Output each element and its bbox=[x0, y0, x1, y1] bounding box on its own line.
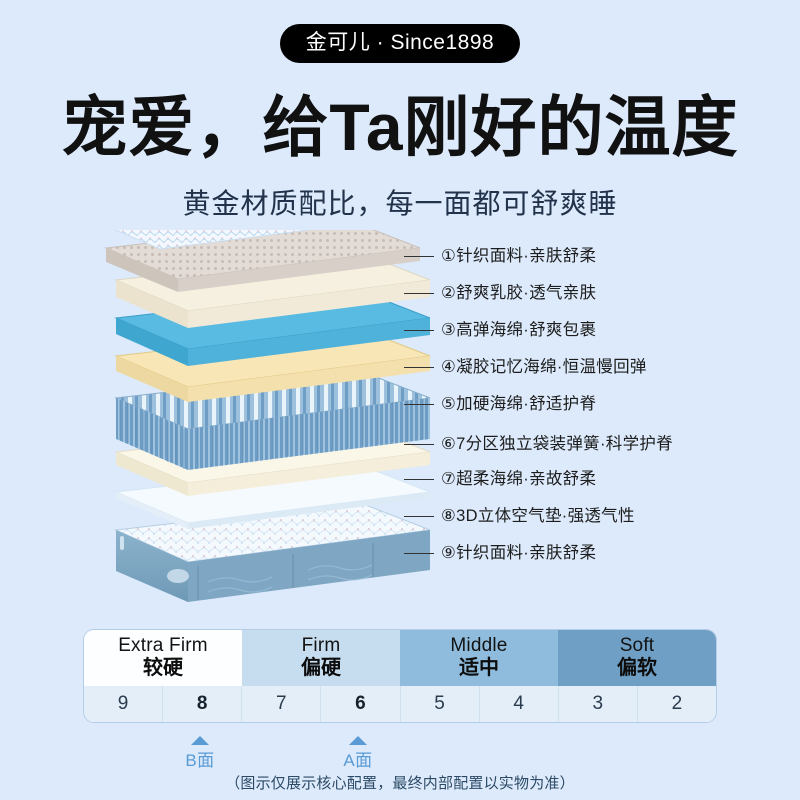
firmness-number-cell: 2 bbox=[638, 686, 716, 722]
side-marker-label: A面 bbox=[343, 751, 372, 770]
layer-label-7: ⑦超柔海绵·亲故舒柔 bbox=[404, 471, 596, 488]
firmness-header-extra-firm: Extra Firm 较硬 bbox=[84, 630, 242, 686]
side-marker-a: A面 bbox=[328, 736, 388, 771]
infographic-page: 金可儿 · Since1898 宠爱，给Ta刚好的温度 黄金材质配比，每一面都可… bbox=[0, 0, 800, 800]
layer-label-text: ⑨针织面料·亲肤舒柔 bbox=[441, 545, 596, 562]
layer-label-text: ⑦超柔海绵·亲故舒柔 bbox=[441, 471, 596, 488]
layer-label-6: ⑥7分区独立袋装弹簧·科学护脊 bbox=[404, 436, 673, 453]
mattress-exploded-illustration bbox=[58, 230, 458, 605]
firmness-header-en: Soft bbox=[620, 636, 655, 656]
leader-line-icon bbox=[404, 293, 434, 294]
layer-label-1: ①针织面料·亲肤舒柔 bbox=[404, 248, 596, 265]
layer-label-text: ⑤加硬海绵·舒适护脊 bbox=[441, 396, 596, 413]
firmness-header-soft: Soft 偏软 bbox=[558, 630, 716, 686]
firmness-header-zh: 偏软 bbox=[617, 657, 657, 680]
layer-label-text: ③高弹海绵·舒爽包裹 bbox=[441, 322, 596, 339]
footnote: （图示仅展示核心配置，最终内部配置以实物为准） bbox=[0, 772, 800, 793]
firmness-header-en: Middle bbox=[450, 636, 507, 656]
layer-label-2: ②舒爽乳胶·透气亲肤 bbox=[404, 285, 596, 302]
firmness-header-zh: 适中 bbox=[459, 657, 499, 680]
firmness-number-cell: 5 bbox=[401, 686, 480, 722]
firmness-number-cell: 9 bbox=[84, 686, 163, 722]
firmness-header-zh: 较硬 bbox=[143, 657, 183, 680]
layer-label-8: ⑧3D立体空气垫·强透气性 bbox=[404, 508, 635, 525]
layer-label-text: ①针织面料·亲肤舒柔 bbox=[441, 248, 596, 265]
leader-line-icon bbox=[404, 444, 434, 445]
page-title: 宠爱，给Ta刚好的温度 bbox=[0, 92, 800, 163]
leader-line-icon bbox=[404, 367, 434, 368]
layer-label-text: ⑧3D立体空气垫·强透气性 bbox=[441, 508, 635, 525]
firmness-table: Extra Firm 较硬 Firm 偏硬 Middle 适中 Soft 偏软 … bbox=[84, 630, 716, 722]
leader-line-icon bbox=[404, 479, 434, 480]
layer-label-text: ⑥7分区独立袋装弹簧·科学护脊 bbox=[441, 436, 673, 453]
page-subtitle: 黄金材质配比，每一面都可舒爽睡 bbox=[0, 182, 800, 222]
leader-line-icon bbox=[404, 330, 434, 331]
leader-line-icon bbox=[404, 553, 434, 554]
firmness-number-cell: 6 bbox=[321, 686, 400, 722]
firmness-header-zh: 偏硬 bbox=[301, 657, 341, 680]
layer-label-4: ④凝胶记忆海绵·恒温慢回弹 bbox=[404, 359, 647, 376]
firmness-number-cell: 8 bbox=[163, 686, 242, 722]
firmness-number-row: 9 8 7 6 5 4 3 2 bbox=[84, 686, 716, 722]
layer-label-3: ③高弹海绵·舒爽包裹 bbox=[404, 322, 596, 339]
layer-label-5: ⑤加硬海绵·舒适护脊 bbox=[404, 396, 596, 413]
side-marker-label: B面 bbox=[185, 751, 214, 770]
firmness-header-middle: Middle 适中 bbox=[400, 630, 558, 686]
arrow-up-icon bbox=[349, 736, 367, 745]
firmness-number-cell: 3 bbox=[559, 686, 638, 722]
firmness-header-firm: Firm 偏硬 bbox=[242, 630, 400, 686]
firmness-number-cell: 7 bbox=[242, 686, 321, 722]
firmness-header-row: Extra Firm 较硬 Firm 偏硬 Middle 适中 Soft 偏软 bbox=[84, 630, 716, 686]
firmness-number-cell: 4 bbox=[480, 686, 559, 722]
arrow-up-icon bbox=[191, 736, 209, 745]
side-marker-b: B面 bbox=[170, 736, 230, 771]
brand-badge: 金可儿 · Since1898 bbox=[280, 24, 520, 63]
layer-label-text: ②舒爽乳胶·透气亲肤 bbox=[441, 285, 596, 302]
layer-label-text: ④凝胶记忆海绵·恒温慢回弹 bbox=[441, 359, 647, 376]
layer-label-9: ⑨针织面料·亲肤舒柔 bbox=[404, 545, 596, 562]
firmness-header-en: Firm bbox=[302, 636, 341, 656]
leader-line-icon bbox=[404, 404, 434, 405]
layer-label-list: ①针织面料·亲肤舒柔 ②舒爽乳胶·透气亲肤 ③高弹海绵·舒爽包裹 ④凝胶记忆海绵… bbox=[404, 248, 800, 568]
leader-line-icon bbox=[404, 516, 434, 517]
leader-line-icon bbox=[404, 256, 434, 257]
brand-badge-wrapper: 金可儿 · Since1898 bbox=[0, 24, 800, 63]
firmness-header-en: Extra Firm bbox=[118, 636, 208, 656]
